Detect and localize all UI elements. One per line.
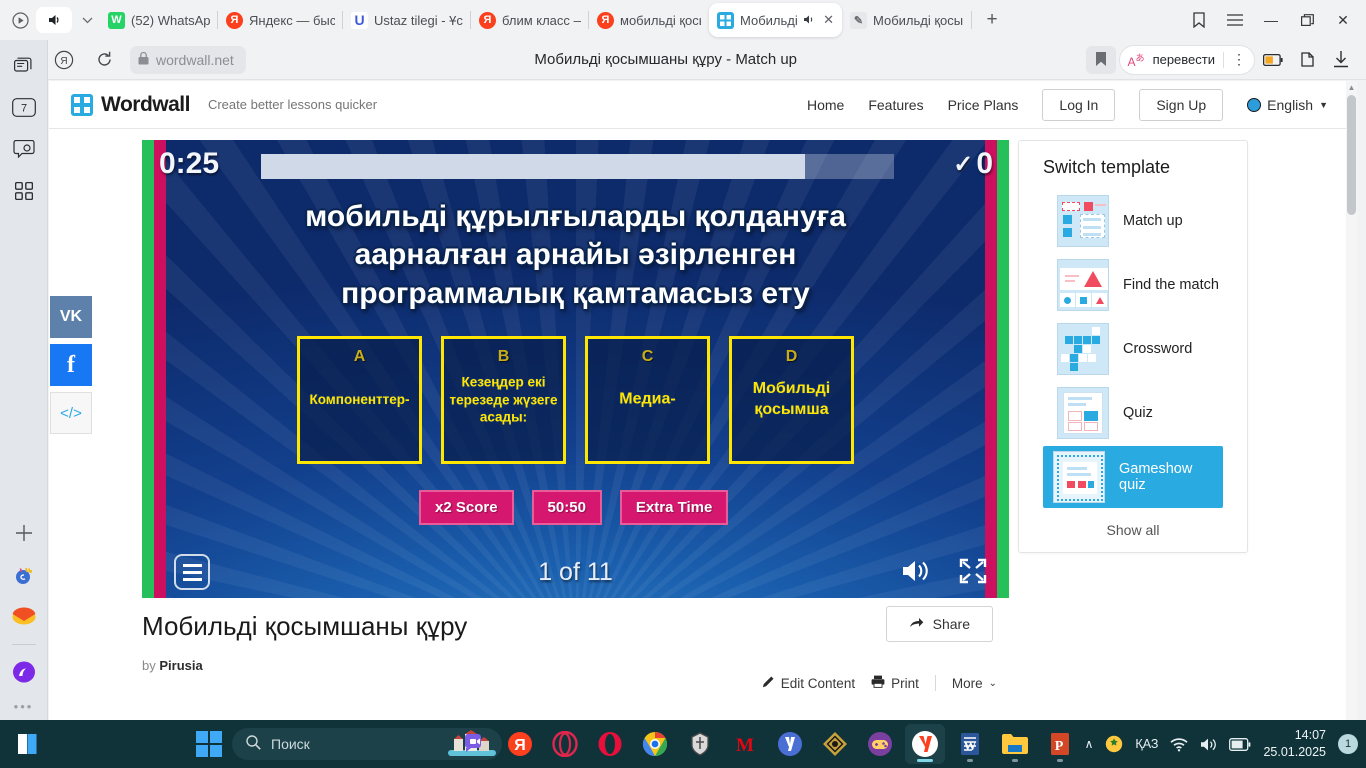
check-icon: ✓ (953, 150, 973, 179)
apps-grid-icon[interactable] (9, 176, 39, 206)
answer-option-b[interactable]: B Кезеңдер екі терезеде жүзеге асады: (441, 336, 566, 464)
yandex-icon: Я (597, 12, 614, 29)
template-option-gameshow-quiz[interactable]: Gameshow quiz (1043, 446, 1223, 508)
answer-text: Кезеңдер екі терезеде жүзеге асады: (446, 374, 562, 427)
notification-badge[interactable]: 1 (1338, 734, 1358, 754)
tab-title: Мобильді (740, 13, 797, 28)
start-button[interactable] (196, 731, 222, 757)
wordwall-logo-text: Wordwall (101, 93, 190, 117)
mail-icon[interactable] (9, 602, 39, 632)
tab-title: Ustaz tilegi - Ұс (374, 13, 463, 28)
find-the-match-thumbnail-icon (1057, 259, 1109, 311)
game-menu-button[interactable] (174, 554, 210, 590)
powerups-row: x2 Score 50:50 Extra Time (419, 490, 728, 525)
match-up-thumbnail-icon (1057, 195, 1109, 247)
template-option-quiz[interactable]: Quiz (1033, 382, 1237, 444)
windows-taskbar: Поиск Я M (0, 720, 1366, 768)
activity-title-block: Мобильді қосымшаны құру by Pirusia Share… (142, 611, 1009, 673)
vk-share-button[interactable]: VK (50, 296, 92, 338)
browser-tab[interactable]: Я мобильді қосы (589, 4, 709, 36)
stage-edge-green-right (997, 140, 1009, 598)
edit-content-label: Edit Content (781, 676, 855, 691)
music-icon[interactable] (9, 657, 39, 687)
translate-icon: Aあ (1128, 51, 1145, 69)
chevron-down-icon[interactable] (74, 7, 100, 33)
extensions-icon[interactable] (1292, 46, 1322, 74)
maximize-button[interactable] (1290, 5, 1324, 35)
system-tray: ∧ ҚАЗ 14:07 25.01.2025 1 (1085, 727, 1358, 761)
keyboard-language-indicator[interactable]: ҚАЗ (1135, 737, 1158, 751)
wifi-icon[interactable] (1170, 737, 1188, 752)
tabs-icon[interactable] (9, 50, 39, 80)
page-title: Мобильді қосымшаны құру (142, 611, 1009, 642)
tab-title: Мобильді қосы (873, 13, 963, 28)
template-label: Match up (1123, 213, 1183, 229)
switch-template-heading: Switch template (1019, 157, 1247, 188)
answer-text: Компоненттер- (302, 391, 418, 409)
activity-actions: Edit Content Print More ⌄ (762, 675, 997, 691)
tab-title: Яндекс — быст (249, 13, 335, 28)
word-icon[interactable]: W (950, 724, 990, 764)
world-of-tanks-icon[interactable] (680, 724, 720, 764)
yandex-browser-icon[interactable]: Я (500, 724, 540, 764)
answer-option-a[interactable]: A Компоненттер- (297, 336, 422, 464)
sidebar-more-icon[interactable]: ••• (14, 699, 34, 720)
new-tab-button[interactable]: + (978, 6, 1006, 34)
game-stage[interactable]: 0:25 ✓ 0 мобильді құрылғыларды қолдануға… (142, 140, 1009, 598)
chevron-down-icon: ▼ (1319, 100, 1328, 110)
svg-text:7: 7 (20, 102, 26, 114)
template-label: Gameshow quiz (1119, 461, 1213, 493)
battery-icon[interactable] (1258, 46, 1288, 74)
antivirus-icon[interactable] (1105, 735, 1123, 753)
note-icon: ✎ (850, 12, 867, 29)
volume-icon[interactable] (901, 558, 931, 589)
search-icon (246, 735, 261, 753)
counter-7-icon[interactable]: 7 (9, 92, 39, 122)
battery-icon[interactable] (1229, 738, 1251, 751)
gameshow-quiz-thumbnail-icon (1053, 451, 1105, 503)
reload-icon[interactable] (88, 44, 120, 76)
address-bar: Я wordwall.net Мобильді қосымшаны құру -… (0, 40, 1366, 80)
progress-bar-track (261, 154, 894, 179)
game-bottom-bar: 1 of 11 (142, 546, 1009, 598)
facebook-share-button[interactable]: f (50, 344, 92, 386)
chevron-down-icon: ⌄ (989, 678, 997, 689)
svg-text:W: W (964, 738, 977, 753)
downloads-icon[interactable] (1326, 46, 1356, 74)
yandex-disk-icon[interactable] (770, 724, 810, 764)
question-text: мобильді құрылғыларды қолдануға аарналға… (242, 198, 909, 313)
tab-title: (52) WhatsApp (131, 13, 210, 28)
browser-tab[interactable]: Я блим класс — Я (471, 4, 589, 36)
svg-text:Я: Я (60, 56, 67, 67)
browser-tab-active[interactable]: Мобильді ✕ (709, 3, 842, 37)
yandex-active-icon[interactable] (905, 724, 945, 764)
fullscreen-icon[interactable] (959, 558, 987, 589)
powerup-fifty-fifty[interactable]: 50:50 (532, 490, 602, 525)
tab-title: блим класс — Я (502, 13, 581, 28)
url-input[interactable]: wordwall.net (130, 46, 246, 74)
crossword-thumbnail-icon (1057, 323, 1109, 375)
address-bar-actions: Aあ перевести ⋮ (1086, 46, 1366, 74)
share-button[interactable]: Share (886, 606, 993, 642)
stage-edge-pink-right (985, 140, 997, 598)
share-label: Share (933, 616, 970, 632)
template-option-crossword[interactable]: Crossword (1033, 318, 1237, 380)
tabstrip-left-controls (0, 6, 100, 34)
signup-button[interactable]: Sign Up (1139, 89, 1223, 121)
more-label: More (952, 676, 983, 691)
lock-icon (138, 52, 149, 68)
minimize-button[interactable]: — (1254, 5, 1288, 35)
alice-assistant-icon[interactable] (9, 560, 39, 590)
wordwall-logo[interactable]: Wordwall (71, 93, 190, 117)
author-byline: by Pirusia (142, 658, 1009, 673)
stage-edge-pink-left (154, 140, 166, 598)
template-label: Quiz (1123, 405, 1153, 421)
close-window-button[interactable]: ✕ (1326, 5, 1360, 35)
answer-option-d[interactable]: D Мобильді қосымша (729, 336, 854, 464)
menu-hamburger-icon[interactable] (1218, 5, 1252, 35)
quiz-thumbnail-icon (1057, 387, 1109, 439)
answer-letter: A (354, 348, 366, 366)
yandex-icon: Я (226, 12, 243, 29)
answer-text: Мобильді қосымша (734, 379, 850, 421)
taskbar-apps: Я M W (455, 724, 1080, 764)
svg-text:P: P (1055, 739, 1064, 754)
wargaming-icon[interactable] (815, 724, 855, 764)
tab-strip: W (52) WhatsApp Я Яндекс — быст U Ustaz … (0, 0, 1366, 40)
translate-button[interactable]: Aあ перевести ⋮ (1120, 46, 1254, 74)
bookmarks-icon[interactable] (1182, 5, 1216, 35)
opera-gx-icon[interactable] (545, 724, 585, 764)
template-label: Find the match (1123, 277, 1219, 293)
language-selector[interactable]: English ▼ (1247, 97, 1328, 113)
scroll-up-arrow[interactable]: ▲ (1347, 83, 1356, 92)
powerpoint-icon[interactable]: P (1040, 724, 1080, 764)
nav-price-plans[interactable]: Price Plans (948, 97, 1019, 113)
opera-icon[interactable] (590, 724, 630, 764)
clock-time: 14:07 (1295, 728, 1326, 742)
tab-list: W (52) WhatsApp Я Яндекс — быст U Ustaz … (100, 0, 1182, 40)
site-header: Wordwall Create better lessons quicker H… (49, 81, 1346, 129)
yandex-icon: Я (479, 12, 496, 29)
print-button[interactable]: Print (871, 675, 919, 691)
browser-left-sidebar: 7 ••• (0, 40, 48, 720)
chrome-icon[interactable] (635, 724, 675, 764)
wordwall-logo-icon (71, 94, 93, 116)
tab-audio-indicator[interactable] (36, 7, 72, 33)
volume-icon[interactable] (1200, 737, 1217, 752)
clock-date: 25.01.2025 (1263, 745, 1326, 759)
progress-bar-fill (261, 154, 805, 179)
printer-icon (871, 675, 885, 691)
whatsapp-icon: W (108, 12, 125, 29)
tab-mute-icon[interactable] (803, 13, 815, 28)
file-explorer-icon[interactable] (995, 724, 1035, 764)
widgets-icon[interactable] (14, 731, 44, 757)
page-viewport: Wordwall Create better lessons quicker H… (49, 81, 1357, 720)
template-option-find-the-match[interactable]: Find the match (1033, 254, 1237, 316)
stage-edge-green-left (142, 140, 154, 598)
translate-menu-icon[interactable]: ⋮ (1232, 51, 1246, 68)
site-nav: Home Features Price Plans Log In Sign Up… (807, 89, 1346, 121)
scrollbar-thumb[interactable] (1347, 95, 1356, 215)
url-text: wordwall.net (156, 52, 234, 68)
browser-tab[interactable]: W (52) WhatsApp (100, 4, 218, 36)
gamepad-icon[interactable] (860, 724, 900, 764)
ustaz-icon: U (351, 12, 368, 29)
powerup-extra-time[interactable]: Extra Time (620, 490, 728, 525)
media-play-icon[interactable] (6, 6, 34, 34)
yandex-home-icon[interactable]: Я (48, 44, 80, 76)
score-value: 0 (976, 147, 993, 181)
mts-icon[interactable]: M (725, 724, 765, 764)
window-controls: — ✕ (1182, 5, 1366, 35)
language-label: English (1267, 97, 1313, 113)
answer-letter: D (786, 348, 798, 366)
browser-window: W (52) WhatsApp Я Яндекс — быст U Ustaz … (0, 0, 1366, 720)
print-label: Print (891, 676, 919, 691)
switch-template-panel: Switch template Match up (1018, 140, 1248, 553)
add-bookmark-icon[interactable] (1086, 46, 1116, 74)
globe-icon (1247, 98, 1261, 112)
screenshot-icon[interactable] (9, 134, 39, 164)
browser-tab[interactable]: Я Яндекс — быст (218, 4, 343, 36)
powerup-x2-score[interactable]: x2 Score (419, 490, 514, 525)
answer-option-c[interactable]: C Медиа- (585, 336, 710, 464)
search-placeholder: Поиск (271, 736, 310, 752)
edit-content-button[interactable]: Edit Content (762, 675, 855, 691)
browser-page-title: Мобильді қосымшаны құру - Match up (246, 51, 1086, 68)
nav-home[interactable]: Home (807, 97, 844, 113)
tab-title: мобильді қосы (620, 13, 701, 28)
template-option-match-up[interactable]: Match up (1033, 190, 1237, 252)
page-scrollbar[interactable]: ▲ (1346, 81, 1357, 720)
add-icon[interactable] (9, 518, 39, 548)
login-button[interactable]: Log In (1042, 89, 1115, 121)
score-display: ✓ 0 (953, 147, 993, 181)
tab-close-icon[interactable]: ✕ (823, 12, 834, 28)
by-label: by (142, 658, 156, 673)
browser-tab[interactable]: U Ustaz tilegi - Ұс (343, 4, 471, 36)
nav-features[interactable]: Features (868, 97, 923, 113)
svg-text:M: M (736, 735, 754, 756)
site-tagline: Create better lessons quicker (208, 97, 377, 112)
floating-share-bar: VK f </> (50, 296, 92, 434)
show-hidden-icons-chevron[interactable]: ∧ (1085, 737, 1094, 751)
wordwall-icon (717, 12, 734, 29)
teams-icon[interactable] (455, 724, 495, 764)
template-label: Crossword (1123, 341, 1192, 357)
answer-letter: C (642, 348, 654, 366)
author-name[interactable]: Pirusia (159, 658, 202, 673)
embed-code-button[interactable]: </> (50, 392, 92, 434)
game-timer: 0:25 (159, 147, 219, 181)
answer-options: A Компоненттер- B Кезеңдер екі терезеде … (297, 336, 857, 464)
translate-label: перевести (1153, 52, 1215, 67)
answer-text: Медиа- (590, 390, 706, 411)
browser-tab[interactable]: ✎ Мобильді қосы (842, 4, 972, 36)
answer-letter: B (498, 348, 510, 366)
svg-text:Я: Я (514, 737, 526, 754)
clock[interactable]: 14:07 25.01.2025 (1263, 727, 1326, 761)
page-counter: 1 of 11 (538, 558, 613, 587)
pencil-icon (762, 675, 775, 691)
share-icon (909, 616, 924, 632)
show-all-templates-link[interactable]: Show all (1019, 510, 1247, 538)
more-button[interactable]: More ⌄ (952, 676, 997, 691)
